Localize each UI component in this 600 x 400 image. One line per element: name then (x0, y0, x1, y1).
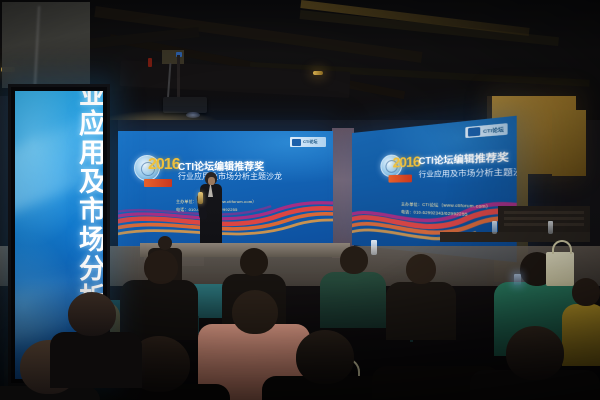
tote-bag (546, 252, 574, 286)
presenter-face (208, 177, 215, 185)
water-bottle-icon (371, 240, 377, 255)
logo-mark-icon (292, 139, 301, 146)
main-projection-screen: 2016 CTI论坛编辑推荐奖 行业应用及市场分析主题沙龙 主办单位：CTI论坛… (118, 131, 333, 247)
person-head (296, 330, 354, 384)
slide-year: 2016 (393, 153, 420, 171)
sprinkler-icon (148, 58, 152, 67)
person-head (406, 254, 436, 284)
person-head (232, 290, 278, 334)
slide-year: 2016 (148, 156, 180, 174)
microphone-icon (198, 192, 203, 204)
person-head (506, 326, 564, 380)
slide-subtitle: 行业应用及市场分析主题沙龙 (178, 171, 282, 182)
conference-hall-photo: 2016 CTI论坛编辑推荐奖 行业应用及市场分析主题沙龙 主办单位：CTI论坛… (0, 0, 600, 400)
wall-divider-strip (332, 128, 354, 258)
frosted-glass-panel (2, 2, 90, 88)
presenter (198, 172, 224, 250)
water-bottle-icon (492, 221, 497, 234)
person-head (144, 250, 178, 284)
person-head (158, 236, 172, 250)
person-body (562, 304, 600, 366)
ceiling-lamp-icon (313, 71, 323, 75)
projector-mount-pole (177, 55, 180, 99)
person-head (340, 246, 368, 274)
smartphone-icon (514, 274, 521, 285)
person-head (572, 278, 600, 306)
person-head (68, 292, 116, 336)
person-head (240, 248, 268, 276)
person-head (408, 318, 468, 374)
glass-seam (34, 6, 40, 86)
person-body (320, 272, 386, 328)
slide-logo: CTI论坛 (290, 137, 326, 147)
person-body (120, 280, 198, 340)
tote-bag-handle (552, 240, 572, 254)
water-bottle-icon (548, 221, 553, 234)
slide-logo-text: CTI论坛 (303, 139, 317, 145)
person-body (50, 332, 142, 388)
back-table (440, 232, 590, 242)
back-wall-slats (504, 211, 584, 227)
slide-logo-text: CTI论坛 (483, 125, 504, 134)
gold-wall-panel (552, 110, 586, 176)
logo-mark-icon (468, 127, 480, 137)
slide-badge (388, 175, 412, 183)
slide-badge (144, 179, 172, 187)
